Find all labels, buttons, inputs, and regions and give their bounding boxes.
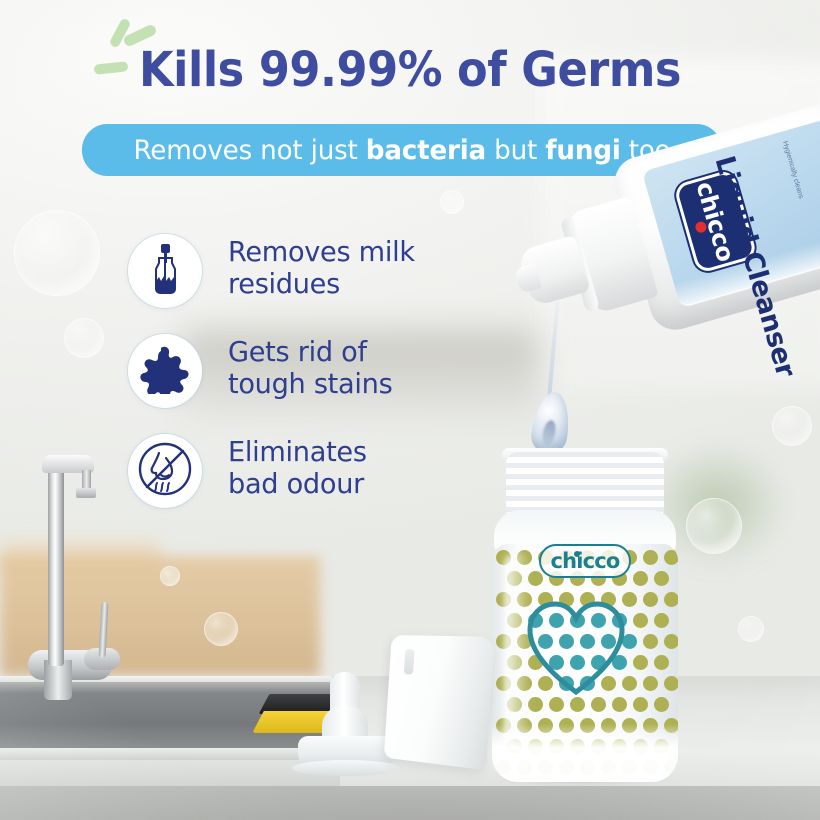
soap-bubble [160,566,180,586]
soap-bubble [204,612,238,646]
bottle-pattern-dot [633,571,648,586]
bottle-pattern-dot [549,697,564,712]
bottle-pattern-dot [654,571,669,586]
bottle-pattern-dot [664,634,678,649]
sink-rim-front [0,748,332,760]
bottle-pattern-dot [633,697,648,712]
subheadline-bacteria: bacteria [366,135,486,166]
countertop-front-edge [0,786,820,820]
bottle-pattern-dot [654,655,669,670]
faucet-spout [82,470,91,490]
feature-label-line1: Eliminates [228,436,367,468]
feature-label-line1: Removes milk [228,236,415,268]
page-title: Kills 99.99% of Germs [29,42,792,98]
soap-bubble [686,498,742,554]
feature-item-milk-residues: Removes milk residues [128,234,488,334]
subheadline-middle: but [486,135,545,166]
bottle-pattern-dot [643,634,658,649]
bottle-pattern-dot [643,676,658,691]
bottle-pattern-dot [654,613,669,628]
feature-item-tough-stains: Gets rid of tough stains [128,334,488,434]
bottle-pattern-dot [664,592,678,607]
bottle-brush-icon [142,243,188,300]
subheadline-prefix: Removes not just [133,135,365,166]
bottle-base-fade [492,724,678,782]
feature-item-bad-odour: Eliminates bad odour [128,434,488,534]
faucet-body [44,660,72,700]
bottle-pattern-dot [612,697,627,712]
teat-base-ring [292,760,400,776]
chicco-logo-text: chicco [550,549,619,573]
faucet-aerator [76,488,96,498]
soap-bubble [14,210,100,296]
heart-outline-icon [524,600,628,696]
bottle-pattern-dot [591,697,606,712]
feature-icon-badge [128,234,202,308]
faucet-column [48,466,64,666]
feature-label-line2: tough stains [228,368,392,400]
feature-label-line1: Gets rid of [228,336,392,368]
soap-bubble [440,190,464,214]
bottle-neck-threads [506,452,664,514]
feature-list: Removes milk residues Gets rid of tough … [128,234,488,534]
stain-splat-icon [140,344,190,399]
soap-bubble [738,616,764,642]
bottle-pattern-dot [633,655,648,670]
feature-icon-badge [128,334,202,408]
bottle-cap [384,635,496,770]
chicco-logo-badge: chicco [539,544,631,578]
bottle-pattern-dot [664,676,678,691]
baby-feeding-bottle: chicco [486,452,686,792]
no-odour-nose-icon [137,441,193,502]
bottle-pattern-dot [643,550,658,565]
feature-icon-badge [128,434,202,508]
chicco-logo-dot [574,551,580,557]
soap-bubble [772,406,812,446]
feature-label-line2: bad odour [228,468,367,500]
bottle-pattern-dot [570,697,585,712]
soap-bubble [64,318,104,358]
bottle-pattern-dot [643,592,658,607]
feature-label: Removes milk residues [228,234,415,301]
bottle-pattern-dot [633,613,648,628]
product-advertisement: Kills 99.99% of Germs Removes not just b… [0,0,820,820]
feature-label: Eliminates bad odour [228,434,367,501]
bottle-pattern-dot [664,550,678,565]
feature-label: Gets rid of tough stains [228,334,392,401]
bottle-pattern-dot [654,697,669,712]
cap-grip-tab [404,649,415,675]
feature-label-line2: residues [228,268,415,300]
